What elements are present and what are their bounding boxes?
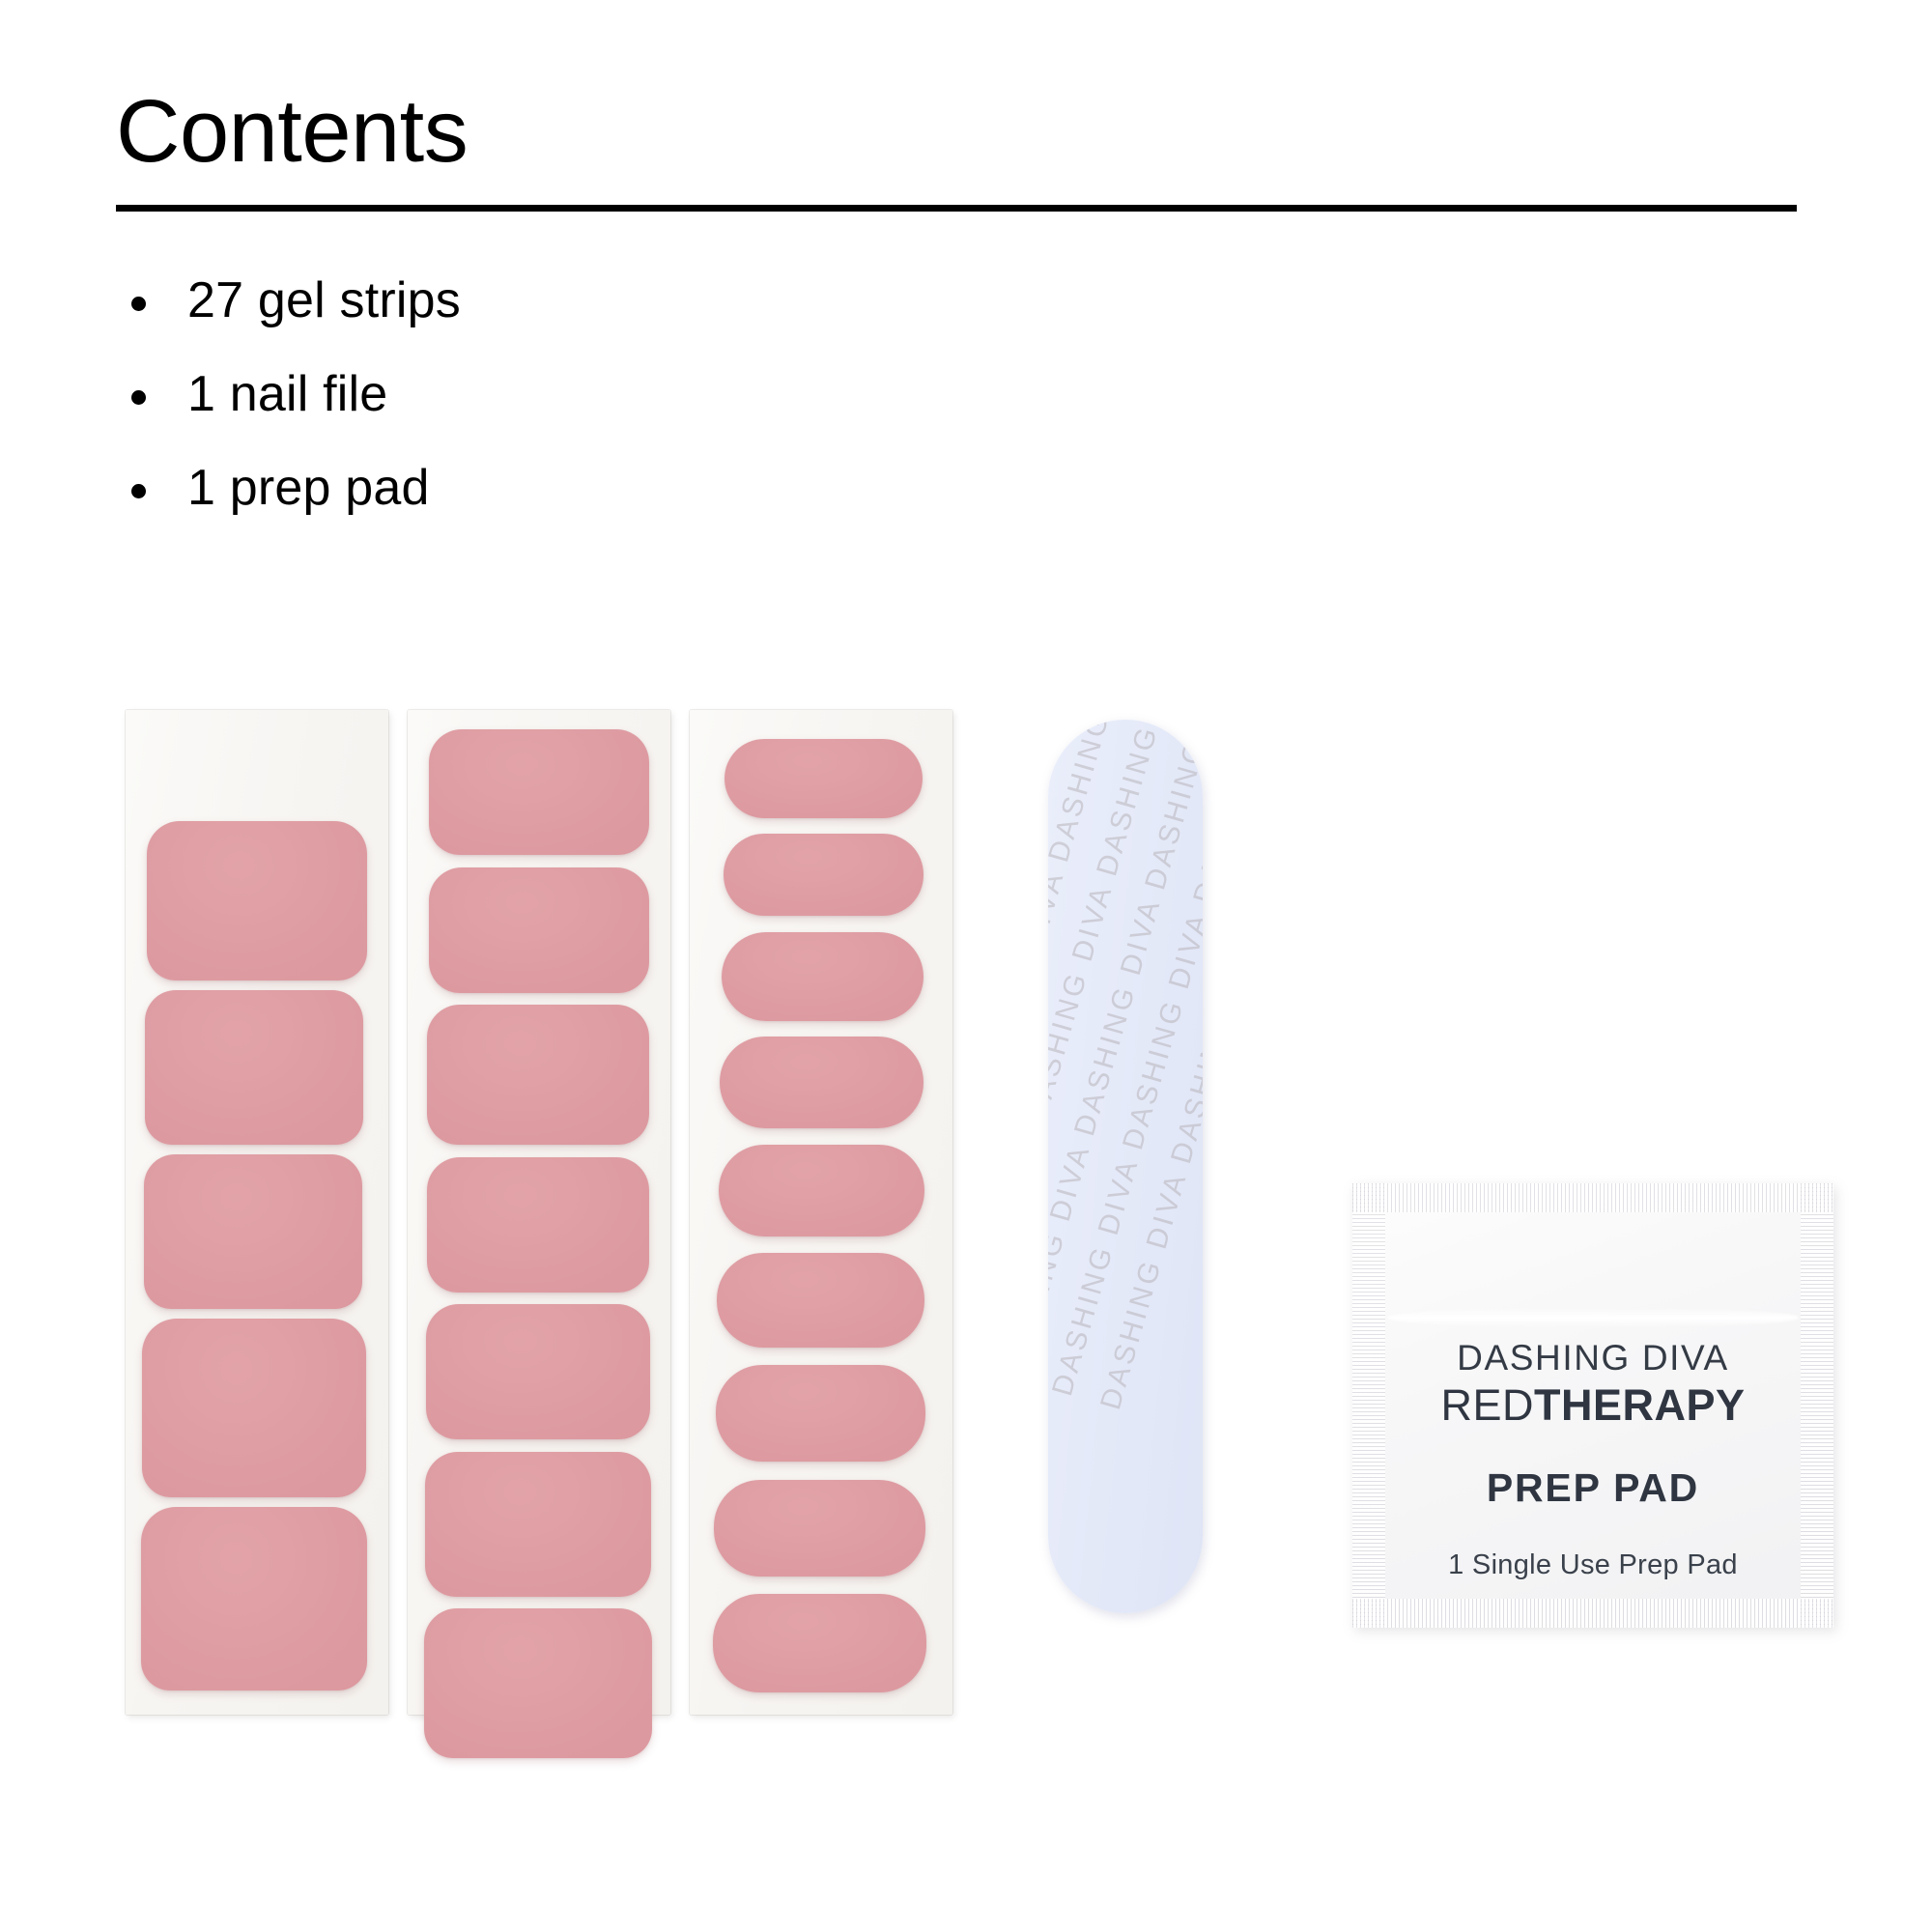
packet-crimp-left <box>1352 1183 1385 1628</box>
gel-strip <box>722 932 923 1021</box>
gel-strip <box>429 867 649 993</box>
packet-quantity-text: 1 Single Use Prep Pad <box>1387 1549 1799 1581</box>
gel-strip <box>145 990 363 1145</box>
gel-strip <box>716 1365 925 1462</box>
gel-strip <box>717 1253 924 1348</box>
gel-strip <box>427 1005 649 1145</box>
gel-strip-sheet-small <box>690 710 952 1715</box>
gel-strip <box>719 1145 924 1236</box>
packet-sheen-highlight <box>1387 1307 1799 1328</box>
gel-strip <box>427 1157 649 1293</box>
gel-strip <box>426 1304 650 1439</box>
packet-product-name: PREP PAD <box>1387 1465 1799 1511</box>
packet-crimp-right <box>1801 1183 1833 1628</box>
gel-strip <box>714 1480 925 1577</box>
gel-strip <box>429 729 649 855</box>
nail-file-brand-pattern: DASHING DIVA DASHING DIVA DASHING DIVA D… <box>1048 788 1203 1568</box>
prep-pad-packet: DASHING DIVA REDTHERAPY PREP PAD 1 Singl… <box>1352 1183 1833 1628</box>
gel-strip <box>724 739 923 818</box>
gel-strip <box>720 1037 923 1128</box>
packet-line-light: RED <box>1440 1380 1534 1430</box>
packet-label-text: DASHING DIVA REDTHERAPY PREP PAD 1 Singl… <box>1387 1340 1799 1581</box>
gel-strip <box>424 1608 652 1758</box>
nail-file: DASHING DIVA DASHING DIVA DASHING DIVA D… <box>1048 720 1203 1613</box>
gel-strip <box>713 1594 926 1692</box>
gel-strip <box>142 1319 366 1497</box>
packet-crimp-top <box>1352 1183 1833 1212</box>
gel-strip <box>147 821 367 980</box>
product-photo-stage: DASHING DIVA DASHING DIVA DASHING DIVA D… <box>0 0 1932 1932</box>
packet-brand-name: DASHING DIVA <box>1387 1340 1799 1378</box>
gel-strip <box>425 1452 651 1597</box>
packet-crimp-bottom <box>1352 1599 1833 1628</box>
packet-line-bold: THERAPY <box>1534 1380 1746 1430</box>
gel-strip <box>141 1507 367 1690</box>
gel-strip <box>724 834 923 916</box>
gel-strip-sheet-medium <box>408 710 670 1715</box>
packet-product-line: REDTHERAPY <box>1387 1381 1799 1430</box>
gel-strip-sheet-large <box>126 710 388 1715</box>
gel-strip <box>144 1154 362 1309</box>
